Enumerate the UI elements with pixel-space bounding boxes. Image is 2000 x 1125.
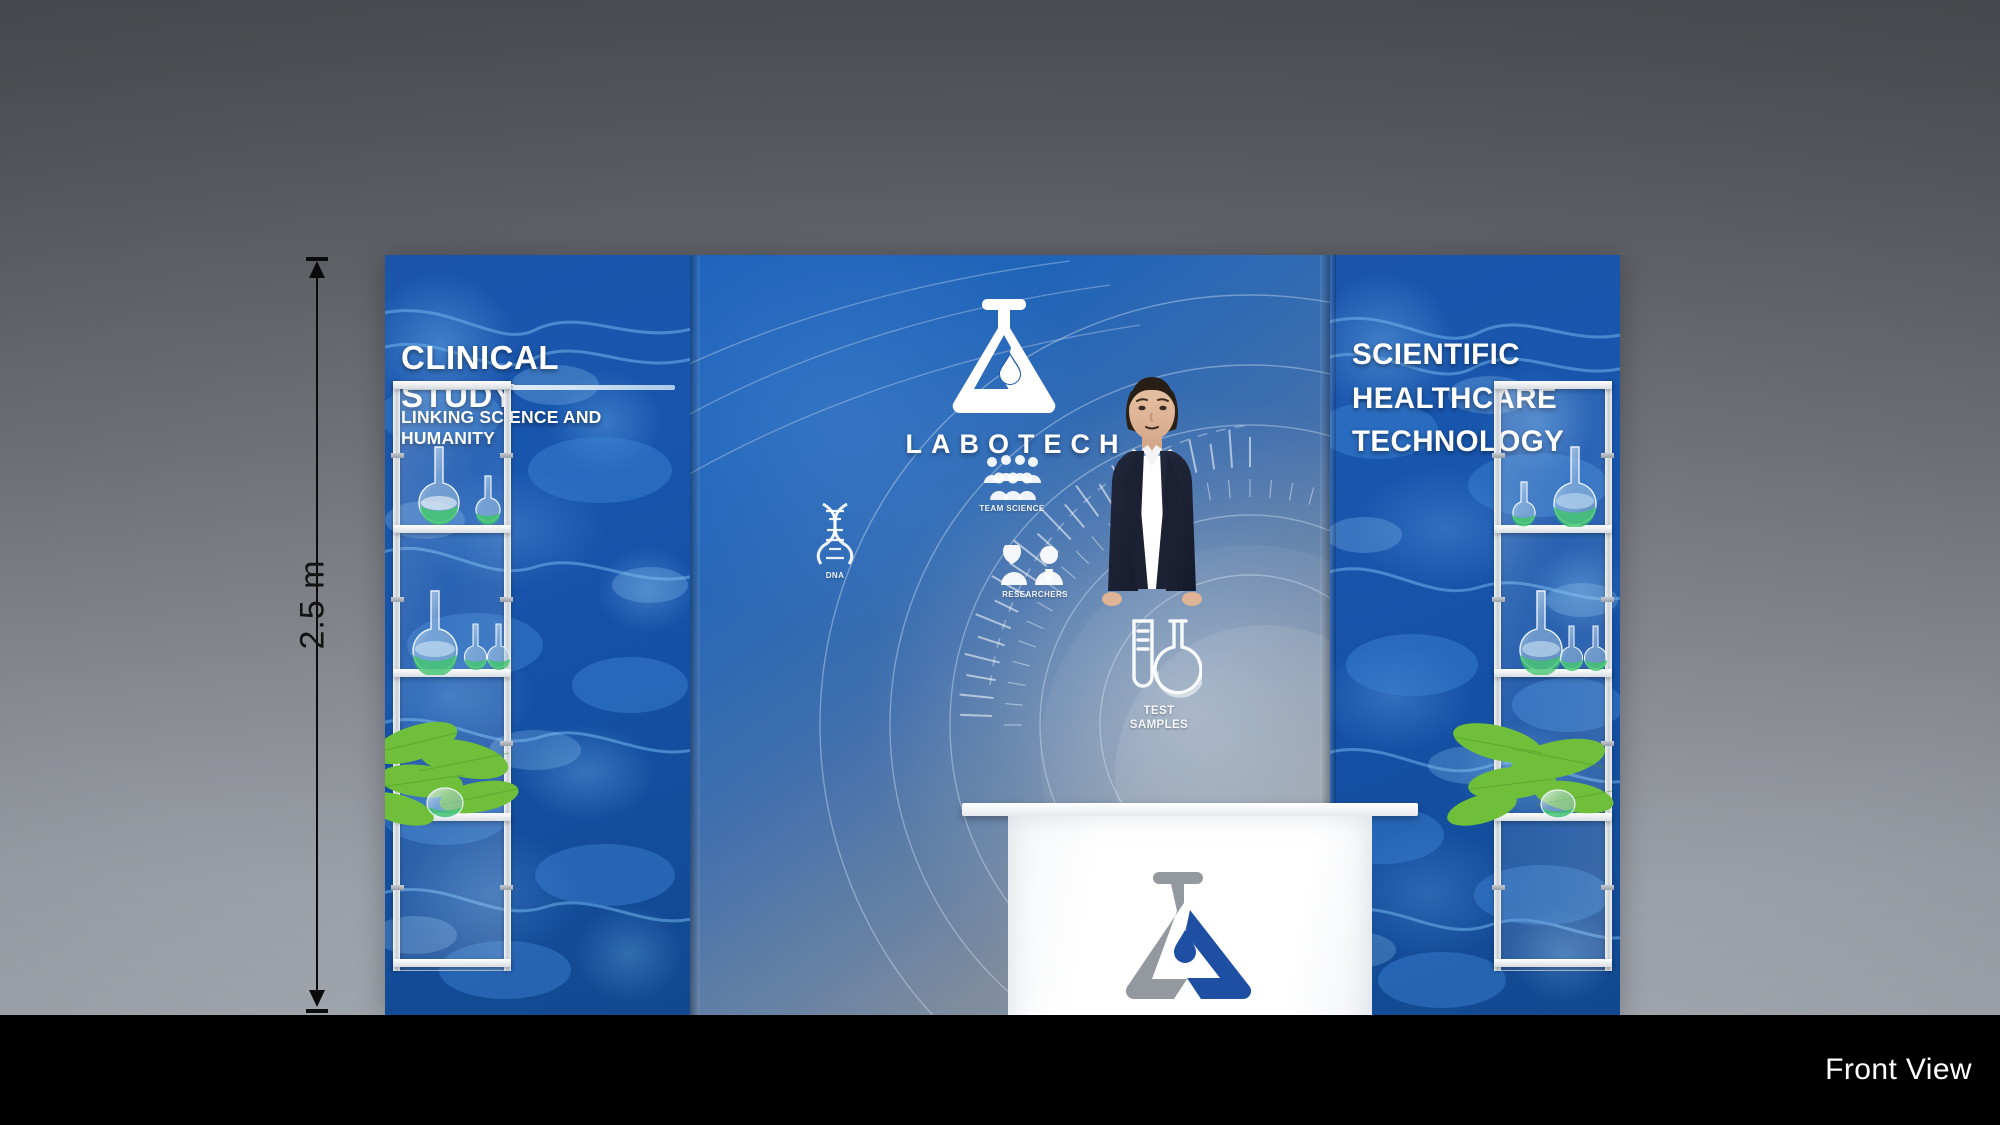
laboratory-flask-icon xyxy=(463,621,489,671)
decorative-plant-leaves xyxy=(1446,699,1620,831)
infographic-test-samples-label-2: SAMPLES xyxy=(1104,718,1214,732)
laboratory-flask-icon xyxy=(405,587,465,675)
laboratory-flask-icon xyxy=(471,473,505,525)
laboratory-flask-icon xyxy=(1546,443,1604,527)
cabinet-bracket xyxy=(1601,597,1614,602)
laboratory-flask-icon xyxy=(421,779,469,821)
presenter-person xyxy=(1086,363,1218,693)
laboratory-flask-icon xyxy=(1508,479,1540,527)
caption-bar: Front View xyxy=(0,1015,2000,1125)
laboratory-flask-icon xyxy=(1584,623,1608,671)
center-panel-seam-left xyxy=(690,255,700,1015)
view-label: Front View xyxy=(1825,1053,1972,1087)
right-panel-line-1: SCIENTIFIC xyxy=(1352,333,1618,377)
laboratory-flask-icon xyxy=(411,443,467,527)
right-wall-panel: SCIENTIFIC HEALTHCARE TECHNOLOGY xyxy=(1330,255,1620,1015)
cabinet-bracket xyxy=(500,885,513,890)
cabinet-bracket xyxy=(391,453,404,458)
labotech-flask-logo-icon xyxy=(1115,870,1265,1002)
cabinet-shelf xyxy=(393,959,511,967)
dna-helix-icon xyxy=(813,500,857,568)
cabinet-bracket xyxy=(391,885,404,890)
dimension-label: 2.5 m xyxy=(294,505,333,705)
dimension-arrow-down-icon xyxy=(309,990,325,1007)
cabinet-shelf xyxy=(1494,959,1612,967)
display-cabinet-left xyxy=(393,381,511,971)
labotech-flask-logo-icon xyxy=(948,297,1076,415)
cabinet-bracket xyxy=(1492,453,1505,458)
display-cabinet-right xyxy=(1494,381,1612,971)
cabinet-bracket xyxy=(1492,885,1505,890)
infographic-researchers: RESEARCHERS xyxy=(992,545,1078,600)
cabinet-bracket xyxy=(500,597,513,602)
cabinet-bracket xyxy=(1492,597,1505,602)
infographic-researchers-label: RESEARCHERS xyxy=(992,590,1078,600)
laboratory-flask-icon xyxy=(487,621,511,671)
dimension-cap-bottom xyxy=(306,1009,328,1013)
booth-render-canvas: 2.5 m xyxy=(0,0,2000,1125)
exhibition-booth: CLINICAL STUDY LINKING SCIENCE AND HUMAN… xyxy=(385,255,1620,1015)
dimension-arrow-up-icon xyxy=(309,261,325,278)
infographic-test-samples-label-1: TEST xyxy=(1104,704,1214,718)
infographic-team: TEAM SCIENCE xyxy=(972,455,1052,514)
researchers-pair-icon xyxy=(1001,545,1069,587)
cabinet-bracket xyxy=(391,597,404,602)
cabinet-shelf xyxy=(393,381,511,389)
infographic-dna-label: DNA xyxy=(800,571,870,581)
infographic-team-label: TEAM SCIENCE xyxy=(972,504,1052,514)
cabinet-bracket xyxy=(1601,885,1614,890)
infographic-dna: DNA xyxy=(800,500,870,581)
team-group-icon xyxy=(982,455,1042,501)
left-wall-panel: CLINICAL STUDY LINKING SCIENCE AND HUMAN… xyxy=(385,255,690,1015)
laboratory-flask-icon xyxy=(1536,781,1580,821)
cabinet-shelf xyxy=(1494,381,1612,389)
cabinet-bracket xyxy=(500,453,513,458)
podium-counter-top xyxy=(962,803,1418,816)
height-dimension-annotation: 2.5 m xyxy=(305,255,329,1015)
laboratory-flask-icon xyxy=(1560,623,1584,671)
